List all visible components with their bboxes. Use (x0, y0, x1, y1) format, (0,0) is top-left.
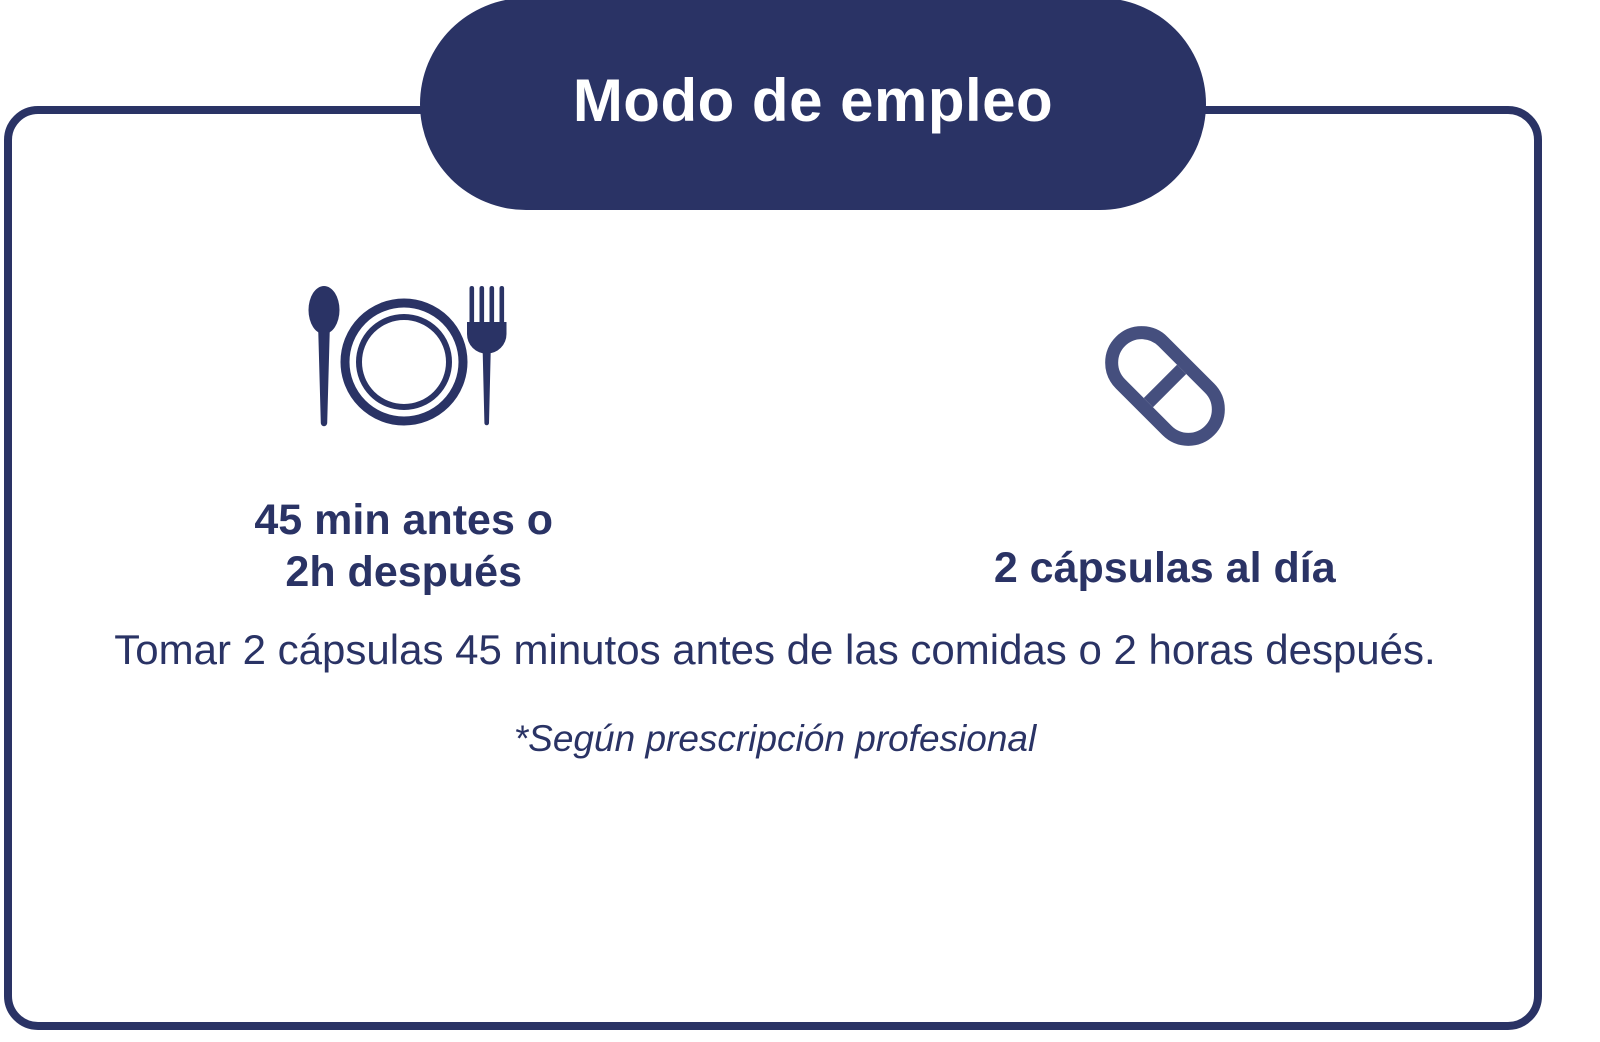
plate-cutlery-icon (299, 272, 509, 452)
instruction-text: Tomar 2 cápsulas 45 minutos antes de las… (70, 624, 1480, 677)
body-block: Tomar 2 cápsulas 45 minutos antes de las… (70, 624, 1480, 763)
page-title: Modo de empleo (573, 71, 1053, 137)
column-label-meal-timing: 45 min antes o 2h después (254, 494, 553, 599)
prescription-note: *Según prescripción profesional (70, 715, 1480, 763)
column-label-dosage: 2 cápsulas al día (994, 542, 1336, 594)
icon-columns: 45 min antes o 2h después 2 cápsulas al … (8, 160, 1530, 599)
header-pill-badge: Modo de empleo (420, 0, 1206, 210)
column-dosage: 2 cápsulas al día (799, 160, 1530, 594)
capsule-pill-icon (1090, 306, 1240, 466)
column-meal-timing: 45 min antes o 2h después (8, 160, 799, 599)
infographic-canvas: Modo de empleo (0, 0, 1600, 1042)
